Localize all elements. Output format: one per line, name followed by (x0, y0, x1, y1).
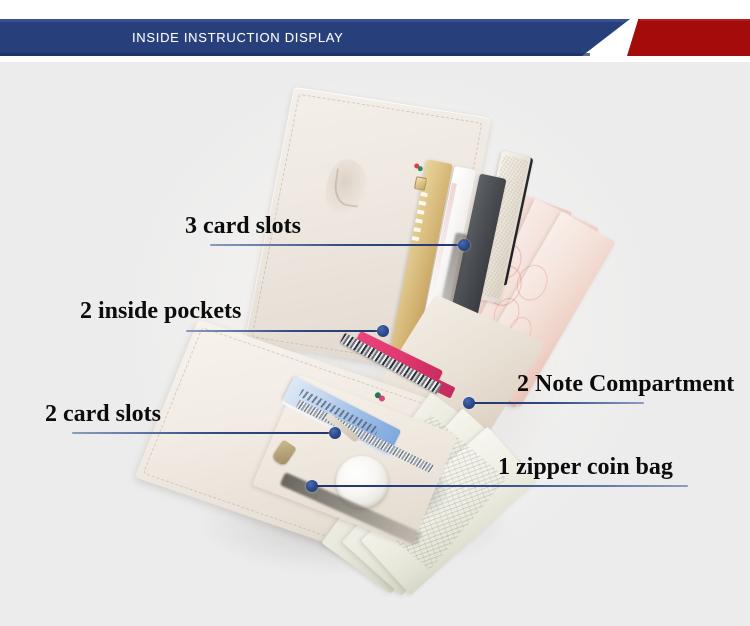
callout-leader-line-2-inside-pockets (186, 330, 382, 332)
callout-label-2-inside-pockets: 2 inside pockets (80, 299, 241, 323)
callout-label-2-note-compartment: 2 Note Compartment (517, 372, 734, 396)
callout-label-3-card-slots: 3 card slots (185, 214, 301, 238)
card-logo-dot-green (417, 166, 423, 172)
callout-leader-line-1-zipper-coin-bag (317, 485, 688, 487)
callout-label-2-card-slots: 2 card slots (45, 402, 161, 426)
banner-blue-highlight (0, 19, 630, 22)
product-photo: 3 card slots 2 inside pockets 2 card slo… (0, 62, 750, 626)
callout-leader-line-3-card-slots (210, 244, 463, 246)
header-banner: INSIDE INSTRUCTION DISPLAY (0, 0, 750, 62)
banner-title: INSIDE INSTRUCTION DISPLAY (132, 30, 344, 45)
wallet-product-image (150, 82, 570, 582)
product-infographic: INSIDE INSTRUCTION DISPLAY (0, 0, 750, 626)
card-blue-logo-dot-pink (378, 394, 386, 402)
banner-red-shape (627, 19, 750, 56)
banner-blue-lowlight (0, 53, 590, 56)
card-gold-logo (413, 163, 425, 172)
callout-leader-line-2-note-compartment (474, 402, 644, 404)
callout-label-1-zipper-coin-bag: 1 zipper coin bag (498, 455, 673, 479)
callout-dot-3-card-slots (458, 239, 470, 251)
callout-leader-line-2-card-slots (72, 432, 334, 434)
callout-dot-2-card-slots (329, 427, 341, 439)
banner-red-highlight (640, 19, 750, 21)
callout-dot-2-inside-pockets (377, 325, 389, 337)
